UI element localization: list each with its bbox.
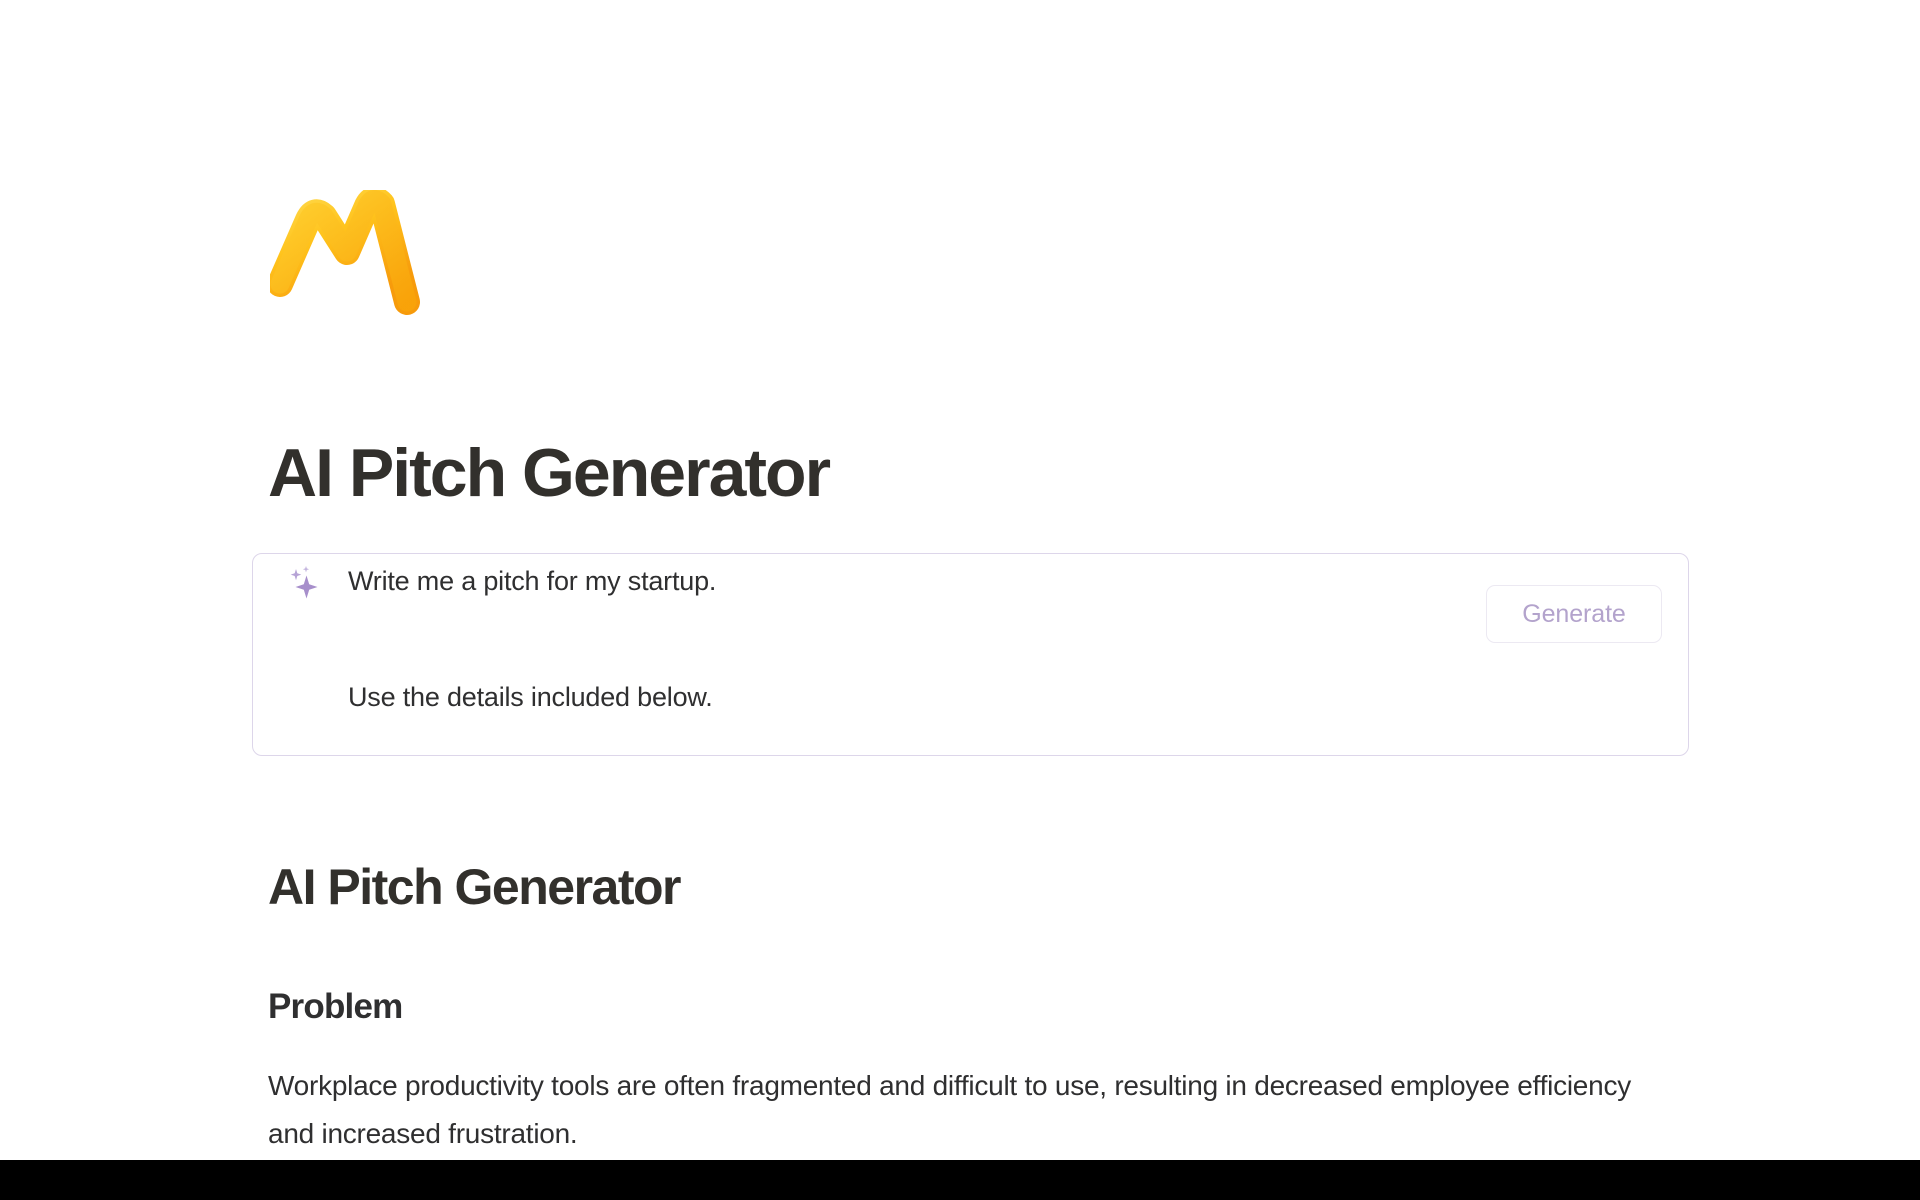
document-canvas: AI Pitch Generator Write me a pitch for … bbox=[0, 0, 1920, 1160]
prompt-text-line-1[interactable]: Write me a pitch for my startup. bbox=[348, 560, 716, 602]
prompt-text-line-2[interactable]: Use the details included below. bbox=[348, 676, 713, 718]
app-window: AI Pitch Generator Write me a pitch for … bbox=[0, 0, 1920, 1200]
bottom-letterbox-bar bbox=[0, 1160, 1920, 1200]
ai-prompt-box[interactable]: Write me a pitch for my startup. Use the… bbox=[252, 553, 1689, 756]
sparkle-icon bbox=[285, 564, 323, 602]
content-section-title: AI Pitch Generator bbox=[268, 856, 680, 918]
section-body-problem: Workplace productivity tools are often f… bbox=[268, 1062, 1658, 1158]
page-title: AI Pitch Generator bbox=[268, 432, 829, 514]
generate-button[interactable]: Generate bbox=[1486, 585, 1662, 643]
section-heading-problem: Problem bbox=[268, 984, 402, 1030]
mem-zigzag-logo-icon bbox=[270, 190, 420, 320]
